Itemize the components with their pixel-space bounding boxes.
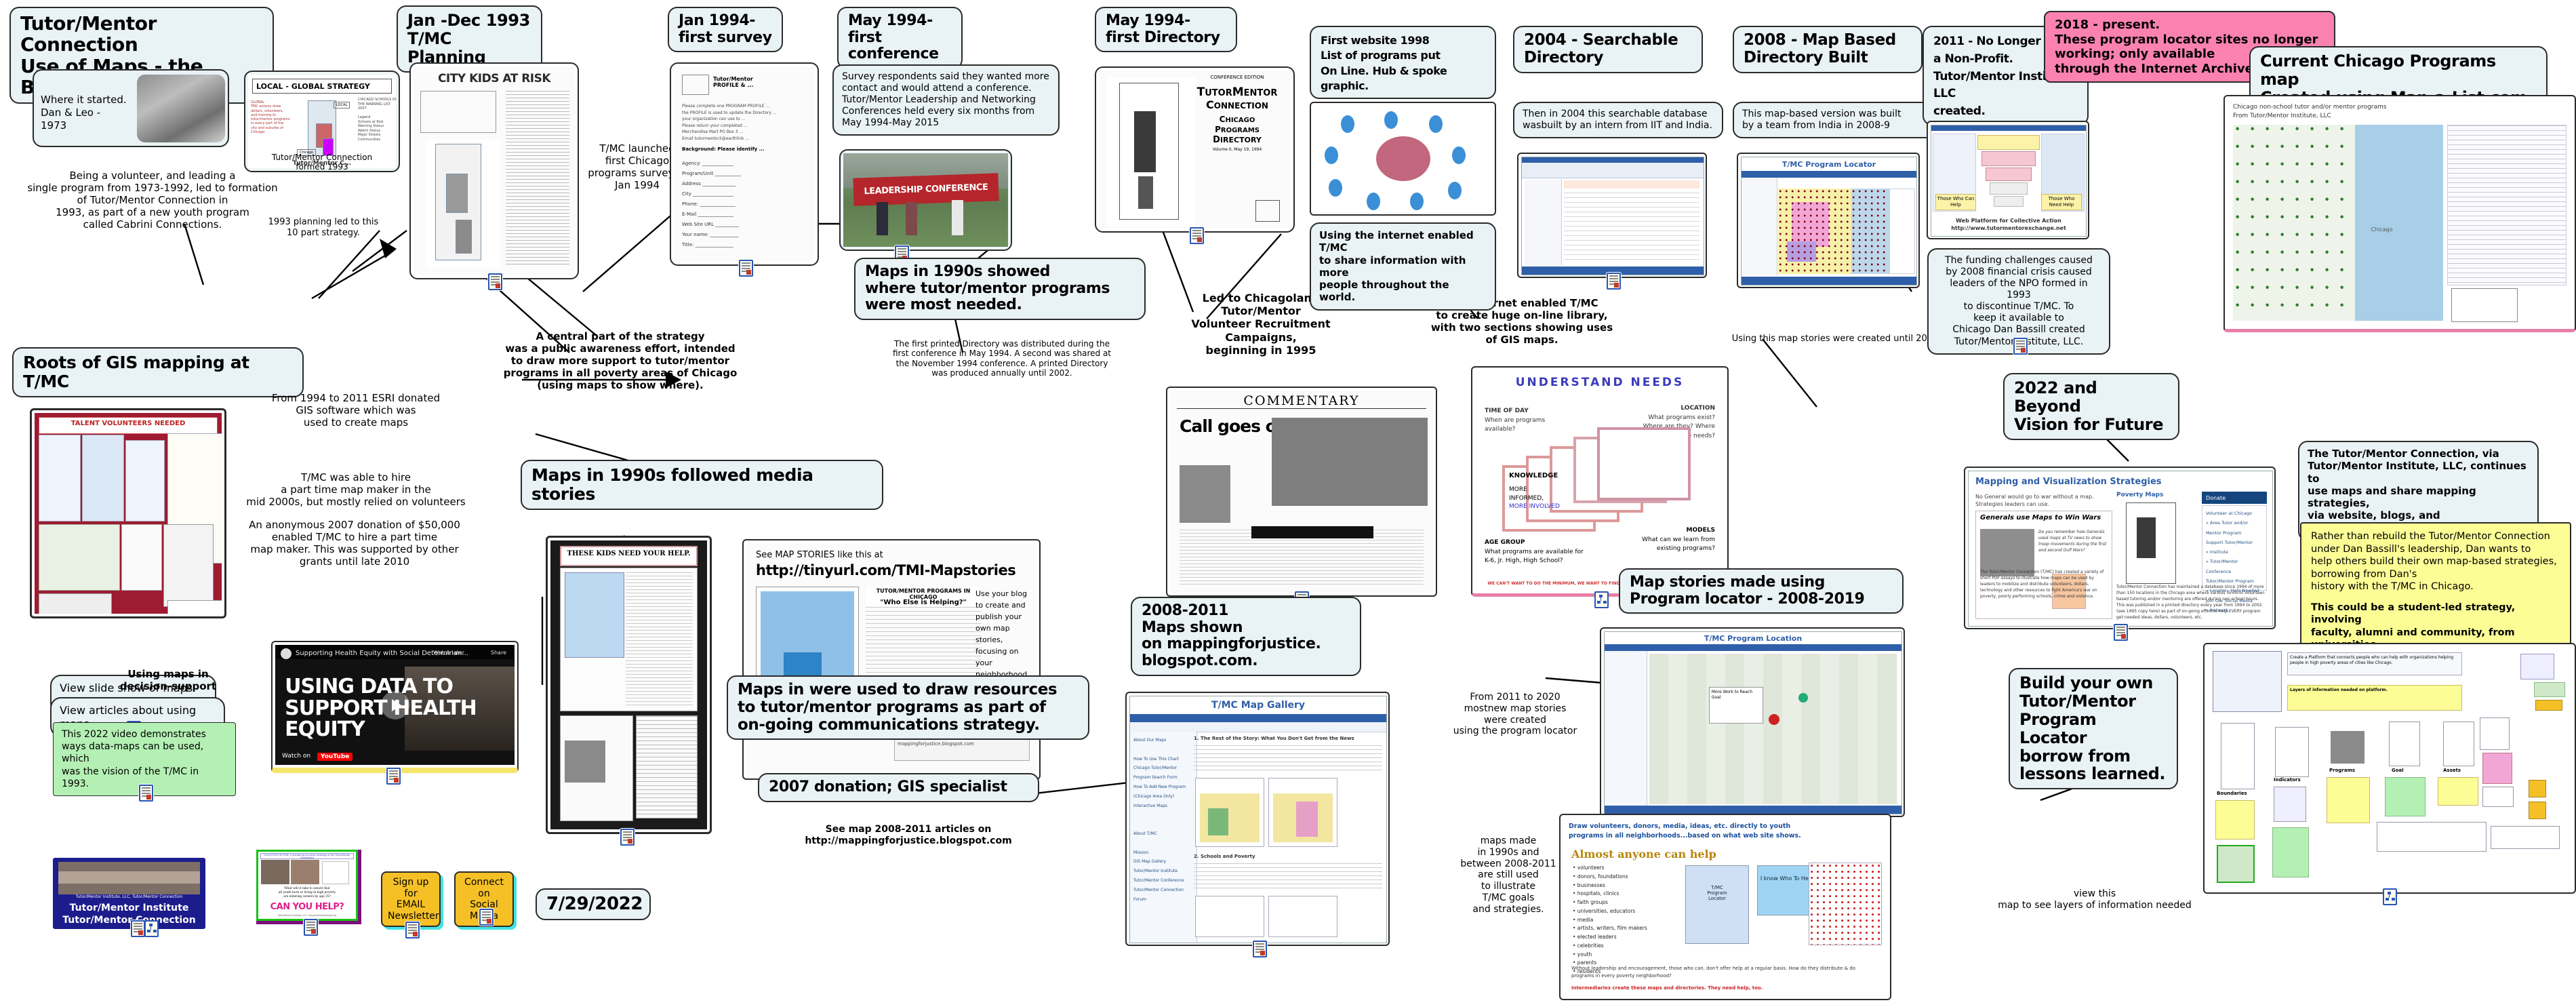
document-attachment-icon[interactable] <box>304 919 318 936</box>
understand-needs-diagram: UNDERSTAND NEEDS TIME OF DAYWhen are pro… <box>1471 366 1729 597</box>
using-maps-decision-support-label: Using maps in decision-support <box>80 668 256 692</box>
can-you-help-caption: What will it take to assure that all you… <box>261 887 353 900</box>
use-your-blog-note: Use your blog to create and publish your… <box>975 588 1028 680</box>
poverty-maps-label: Poverty Maps <box>2116 492 2163 498</box>
program-locator-map-screenshot: T/MC Program Locator <box>1737 153 1920 288</box>
map-stories-url-intro: See MAP STORIES like this at <box>756 550 883 560</box>
map-based-2008-note: This map-based version was built by a te… <box>1733 102 1936 138</box>
may-1994-conference-title: May 1994- first conference <box>837 7 963 69</box>
view-this-map-note: view this map to see layers of informati… <box>1993 888 2196 911</box>
tutor-mentor-institute-card: Tutor/Mentor Institute, LLC, Tutor/Mento… <box>53 858 205 929</box>
signup-email-newsletter-button[interactable]: Sign up for EMAIL Newsletter <box>381 871 441 927</box>
those-who-need-help-label: Those Who Need Help <box>2041 194 2082 210</box>
may-1994-directory-title: May 1994- first Directory <box>1095 7 1237 52</box>
web-platform-caption: Web Platform for Collective Action http:… <box>1931 218 2086 232</box>
dan-and-leo-photo <box>137 75 225 142</box>
program-locator-map-stories-screenshot: T/MC Program Location More Work to Reach… <box>1600 627 1905 817</box>
document-attachment-icon[interactable] <box>1253 941 1267 957</box>
draw-volunteers-headline: Draw volunteers, donors, media, ideas, e… <box>1569 822 1882 841</box>
maps-1990s-media-title: Maps in 1990s followed media stories <box>521 460 883 510</box>
almost-anyone-can-help-heading: Almost anyone can help <box>1571 848 1716 861</box>
map-stories-until-2018-note: Using this map stories were created unti… <box>1723 334 1947 344</box>
jan-1994-first-survey-title: Jan 1994- first survey <box>668 7 783 52</box>
document-attachment-icon[interactable] <box>131 920 145 937</box>
these-kids-need-help-board-photo: THESE KIDS NEED YOUR HELP. <box>546 536 712 834</box>
mapping-visualization-title: Mapping and Visualization Strategies <box>1975 477 2162 487</box>
maps-2008-2011-title: 2008-2011 Maps shown on mappingforjustic… <box>1131 597 1361 676</box>
current-map-caption: Chicago non-school tutor and/or mentor p… <box>2233 103 2436 120</box>
map-stories-url[interactable]: http://tinyurl.com/TMI-Mapstories <box>756 562 1015 578</box>
from-2011-to-2020-note: From 2011 to 2020 mostnew map stories we… <box>1430 692 1600 737</box>
map-attachment-icon[interactable] <box>144 920 159 937</box>
these-kids-need-help-label: THESE KIDS NEED YOUR HELP. <box>560 546 698 566</box>
current-chicago-map-screenshot: Chicago non-school tutor and/or mentor p… <box>2223 95 2576 332</box>
document-attachment-icon[interactable] <box>2114 624 2128 641</box>
those-who-can-help-label: Those Who Can Help <box>1935 194 1976 210</box>
tmc-map-gallery-screenshot: T/MC Map Gallery About Our MapsHow To Us… <box>1125 692 1390 946</box>
roots-of-gis-title: Roots of GIS mapping at T/MC <box>12 347 304 397</box>
build-your-own-title: Build your own Tutor/Mentor Program Loca… <box>2009 668 2178 789</box>
maps-1990s-showed-title: Maps in 1990s showed where tutor/mentor … <box>854 258 1146 320</box>
donation-2007-gis-title: 2007 donation; GIS specialist <box>758 773 1039 802</box>
document-attachment-icon[interactable] <box>405 922 420 939</box>
esri-donated-note: From 1994 to 2011 ESRI donated GIS softw… <box>258 392 454 429</box>
document-attachment-icon[interactable] <box>386 768 401 785</box>
generals-use-maps-heading: Generals use Maps to Win Wars <box>1980 514 2101 521</box>
searchable-directory-2004-title: 2004 - Searchable Directory <box>1513 26 1703 73</box>
mapping-visualization-strategies-screenshot: Mapping and Visualization Strategies No … <box>1964 467 2276 629</box>
part-time-map-maker-note: T/MC was able to hire a part time map ma… <box>237 471 475 508</box>
understand-needs-title: UNDERSTAND NEEDS <box>1475 376 1725 389</box>
health-equity-video-thumbnail[interactable]: Supporting Health Equity with Social Det… <box>271 641 519 773</box>
video-watch-on-label: Watch on <box>282 753 310 759</box>
document-attachment-icon[interactable] <box>2013 338 2028 355</box>
where-it-started-card: Where it started. Dan & Leo - 1973 <box>33 69 229 147</box>
map-stories-program-locator-title: Map stories made using Program locator -… <box>1619 568 1904 614</box>
map-attachment-icon[interactable] <box>1594 591 1609 608</box>
first-survey-form-doc: Tutor/MentorPROFILE & ... Please complet… <box>670 62 819 266</box>
document-attachment-icon[interactable] <box>1190 227 1204 244</box>
can-you-help-poster: COLLECTIVE ACTION: A mentoring-to-career… <box>256 850 361 924</box>
maps-used-to-draw-resources-title: Maps in were used to draw resources to t… <box>727 675 1089 740</box>
map-gallery-title: T/MC Map Gallery <box>1130 696 1386 715</box>
document-attachment-icon[interactable] <box>1607 273 1621 290</box>
leadership-conference-photo: LEADERSHIP CONFERENCE <box>839 149 1012 251</box>
local-global-caption: Tutor/Mentor Connection formed 1993 <box>251 153 393 172</box>
institute-label: Tutor/Mentor Institute Tutor/Mentor Conn… <box>54 903 204 926</box>
first-website-1998-title: First website 1998 List of programs put … <box>1310 26 1496 99</box>
map-stories-tinyurl-doc: See MAP STORIES like this at http://tiny… <box>742 539 1041 780</box>
i-know-who-to-help-label: I know Who To Help <box>1757 865 1817 915</box>
document-attachment-icon[interactable] <box>139 785 153 802</box>
date-stamp: 7/29/2022 <box>536 888 651 920</box>
donate-button[interactable]: Donate <box>2202 492 2267 504</box>
beyond-2022-title: 2022 and Beyond Vision for Future <box>2003 373 2179 440</box>
document-attachment-icon[interactable] <box>488 273 502 290</box>
institute-strip-label: Tutor/Mentor Institute, LLC, Tutor/Mento… <box>58 894 200 901</box>
document-attachment-icon[interactable] <box>739 260 753 277</box>
mindmap-board: Tutor/Mentor Connection Use of Maps - th… <box>0 0 2576 1007</box>
layers-of-information-map: Create a Platform that connects people w… <box>2203 643 2576 894</box>
document-attachment-icon[interactable] <box>479 909 494 926</box>
document-attachment-icon[interactable] <box>620 829 635 846</box>
first-directory-note: The first printed Directory was distribu… <box>860 339 1144 378</box>
gis-bulletin-board-photo: TALENT VOLUNTEERS NEEDED <box>30 408 226 618</box>
call-goes-out-newspaper: COMMENTARY Call goes out for volunteers <box>1166 387 1437 597</box>
video-share-label[interactable]: Share <box>491 650 506 656</box>
map-based-directory-2008-title: 2008 - Map Based Directory Built <box>1733 26 1923 73</box>
city-kids-title: CITY KIDS AT RISK <box>423 72 565 85</box>
can-you-help-headline: CAN YOU HELP? <box>261 902 353 912</box>
survey-respondents-note: Survey respondents said they wanted more… <box>832 64 1060 136</box>
video-watch-later-label[interactable]: Watch later <box>433 650 464 656</box>
collective-action-header: COLLECTIVE ACTION: A mentoring-to-career… <box>260 853 354 859</box>
map-attachment-icon[interactable] <box>2383 888 2397 905</box>
program-locator-screenshot-2004 <box>1517 153 1707 278</box>
central-strategy-note: A central part of the strategy was a pub… <box>468 330 773 391</box>
local-global-heading: LOCAL - GLOBAL STRATEGY <box>252 79 392 94</box>
planning-1993-note: 1993 planning led to this 10 part strate… <box>245 217 401 238</box>
talent-volunteers-label: TALENT VOLUNTEERS NEEDED <box>39 417 218 434</box>
program-locator-title: T/MC Program Locator <box>1742 157 1916 172</box>
youtube-icon[interactable]: YouTube <box>317 753 353 761</box>
see-map-articles-note: See map 2008-2011 articles on http://map… <box>773 824 1044 847</box>
city-kids-at-risk-doc: CITY KIDS AT RISK <box>409 62 579 279</box>
searchable-directory-2004-note: Then in 2004 this searchable database wa… <box>1513 102 1723 138</box>
where-it-started-label: Where it started. Dan & Leo - 1973 <box>41 94 129 132</box>
anonymous-donation-note: An anonymous 2007 donation of $50,000 en… <box>236 519 473 568</box>
who-else-is-helping-label: "Who Else is Helping?" <box>866 599 981 606</box>
play-icon[interactable] <box>381 691 409 719</box>
using-internet-enabled-note: Using the internet enabled T/MC to share… <box>1310 222 1496 311</box>
web-platform-collective-action: Those Who Can Help Those Who Need Help W… <box>1927 121 2089 239</box>
draw-volunteers-poster: Draw volunteers, donors, media, ideas, e… <box>1559 814 1891 1000</box>
rather-than-rebuild-text: Rather than rebuild the Tutor/Mentor Con… <box>2311 530 2560 593</box>
first-directory-cover: CONFERENCE EDITION TUTORMENTOR CONNECTIO… <box>1095 66 1295 233</box>
hub-and-spoke-graphic <box>1310 102 1496 216</box>
